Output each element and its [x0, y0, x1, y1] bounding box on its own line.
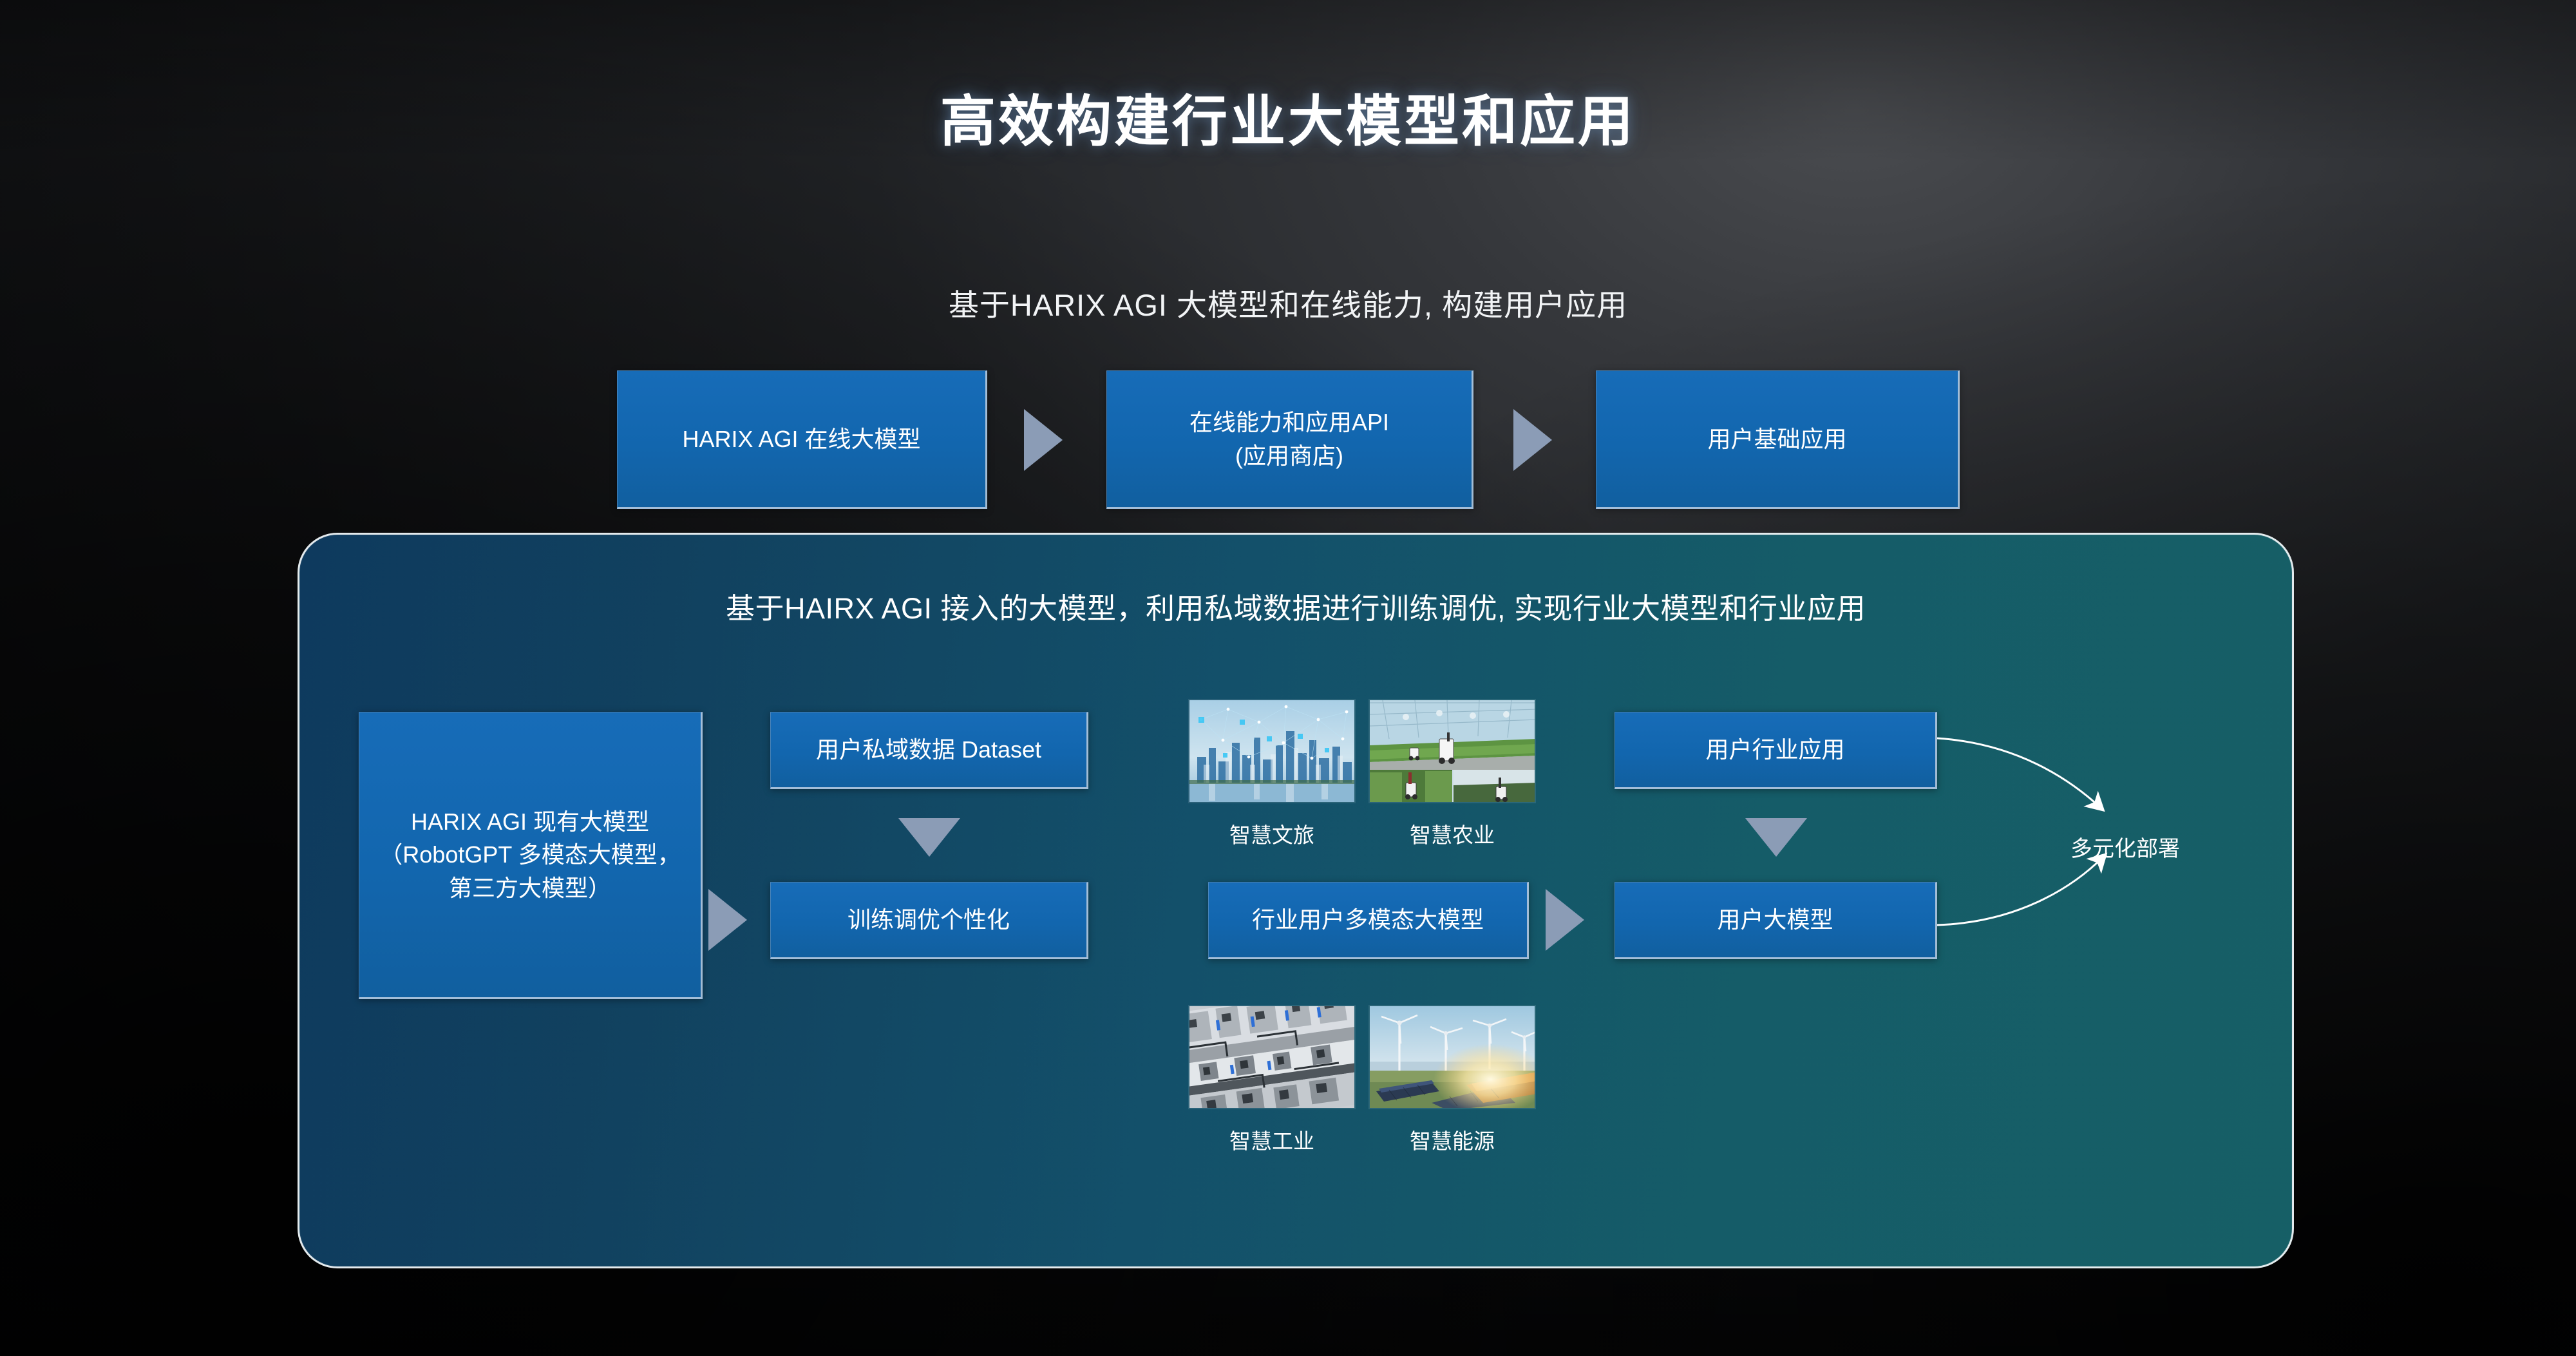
flow-box-training-tuning[interactable]: 训练调优个性化 — [770, 882, 1088, 959]
flow-box-harix-online-model[interactable]: HARIX AGI 在线大模型 — [617, 370, 987, 509]
flow-box-label-line3: 第三方大模型） — [449, 872, 611, 904]
flow-box-label: 训练调优个性化 — [848, 903, 1010, 936]
triangle-right-icon — [1024, 409, 1063, 471]
flow-box-label: 用户私域数据 Dataset — [816, 733, 1041, 766]
smart-energy-wind-solar-image — [1368, 1005, 1536, 1109]
thumbnail-caption: 智慧能源 — [1368, 1124, 1536, 1155]
flow-box-label: 用户大模型 — [1717, 903, 1833, 936]
flow-box-label-line1: HARIX AGI 现有大模型 — [411, 805, 649, 838]
flow-box-harix-existing-models[interactable]: HARIX AGI 现有大模型 （RobotGPT 多模态大模型， 第三方大模型… — [359, 712, 703, 999]
triangle-down-icon — [1745, 818, 1807, 857]
flow-box-label: 用户行业应用 — [1705, 733, 1844, 766]
flow-box-label: HARIX AGI 在线大模型 — [682, 423, 920, 455]
flow-box-user-industry-app[interactable]: 用户行业应用 — [1615, 712, 1937, 789]
flow-box-private-dataset[interactable]: 用户私域数据 Dataset — [770, 712, 1088, 789]
page-subtitle: 基于HARIX AGI 大模型和在线能力, 构建用户应用 — [0, 280, 2576, 325]
flow-box-user-basic-app[interactable]: 用户基础应用 — [1596, 370, 1960, 509]
deploy-label: 多元化部署 — [2035, 831, 2215, 863]
thumbnail-caption: 智慧工业 — [1188, 1124, 1356, 1155]
flow-box-label: 用户基础应用 — [1707, 423, 1846, 455]
flow-box-industry-multimodal-model[interactable]: 行业用户多模态大模型 — [1208, 882, 1529, 959]
triangle-right-icon — [708, 889, 747, 951]
flow-box-online-capability-api[interactable]: 在线能力和应用API (应用商店) — [1106, 370, 1473, 509]
smart-city-skyline-image — [1188, 699, 1356, 803]
triangle-down-icon — [898, 818, 960, 857]
triangle-right-icon — [1546, 889, 1584, 951]
panel-heading: 基于HAIRX AGI 接入的大模型，利用私域数据进行训练调优, 实现行业大模型… — [299, 585, 2292, 627]
thumbnail-caption: 智慧农业 — [1368, 818, 1536, 849]
page-title: 高效构建行业大模型和应用 — [0, 76, 2576, 157]
smart-agriculture-greenhouse-image — [1368, 699, 1536, 803]
flow-box-label-line2: （RobotGPT 多模态大模型， — [379, 838, 680, 871]
smart-industry-factory-image — [1188, 1005, 1356, 1109]
thumbnail-caption: 智慧文旅 — [1188, 818, 1356, 849]
flow-box-user-large-model[interactable]: 用户大模型 — [1615, 882, 1937, 959]
flow-box-label: 行业用户多模态大模型 — [1252, 903, 1484, 936]
flow-box-label-line1: 在线能力和应用API — [1189, 406, 1389, 439]
flow-box-label-line2: (应用商店) — [1189, 439, 1389, 472]
triangle-right-icon — [1513, 409, 1552, 471]
